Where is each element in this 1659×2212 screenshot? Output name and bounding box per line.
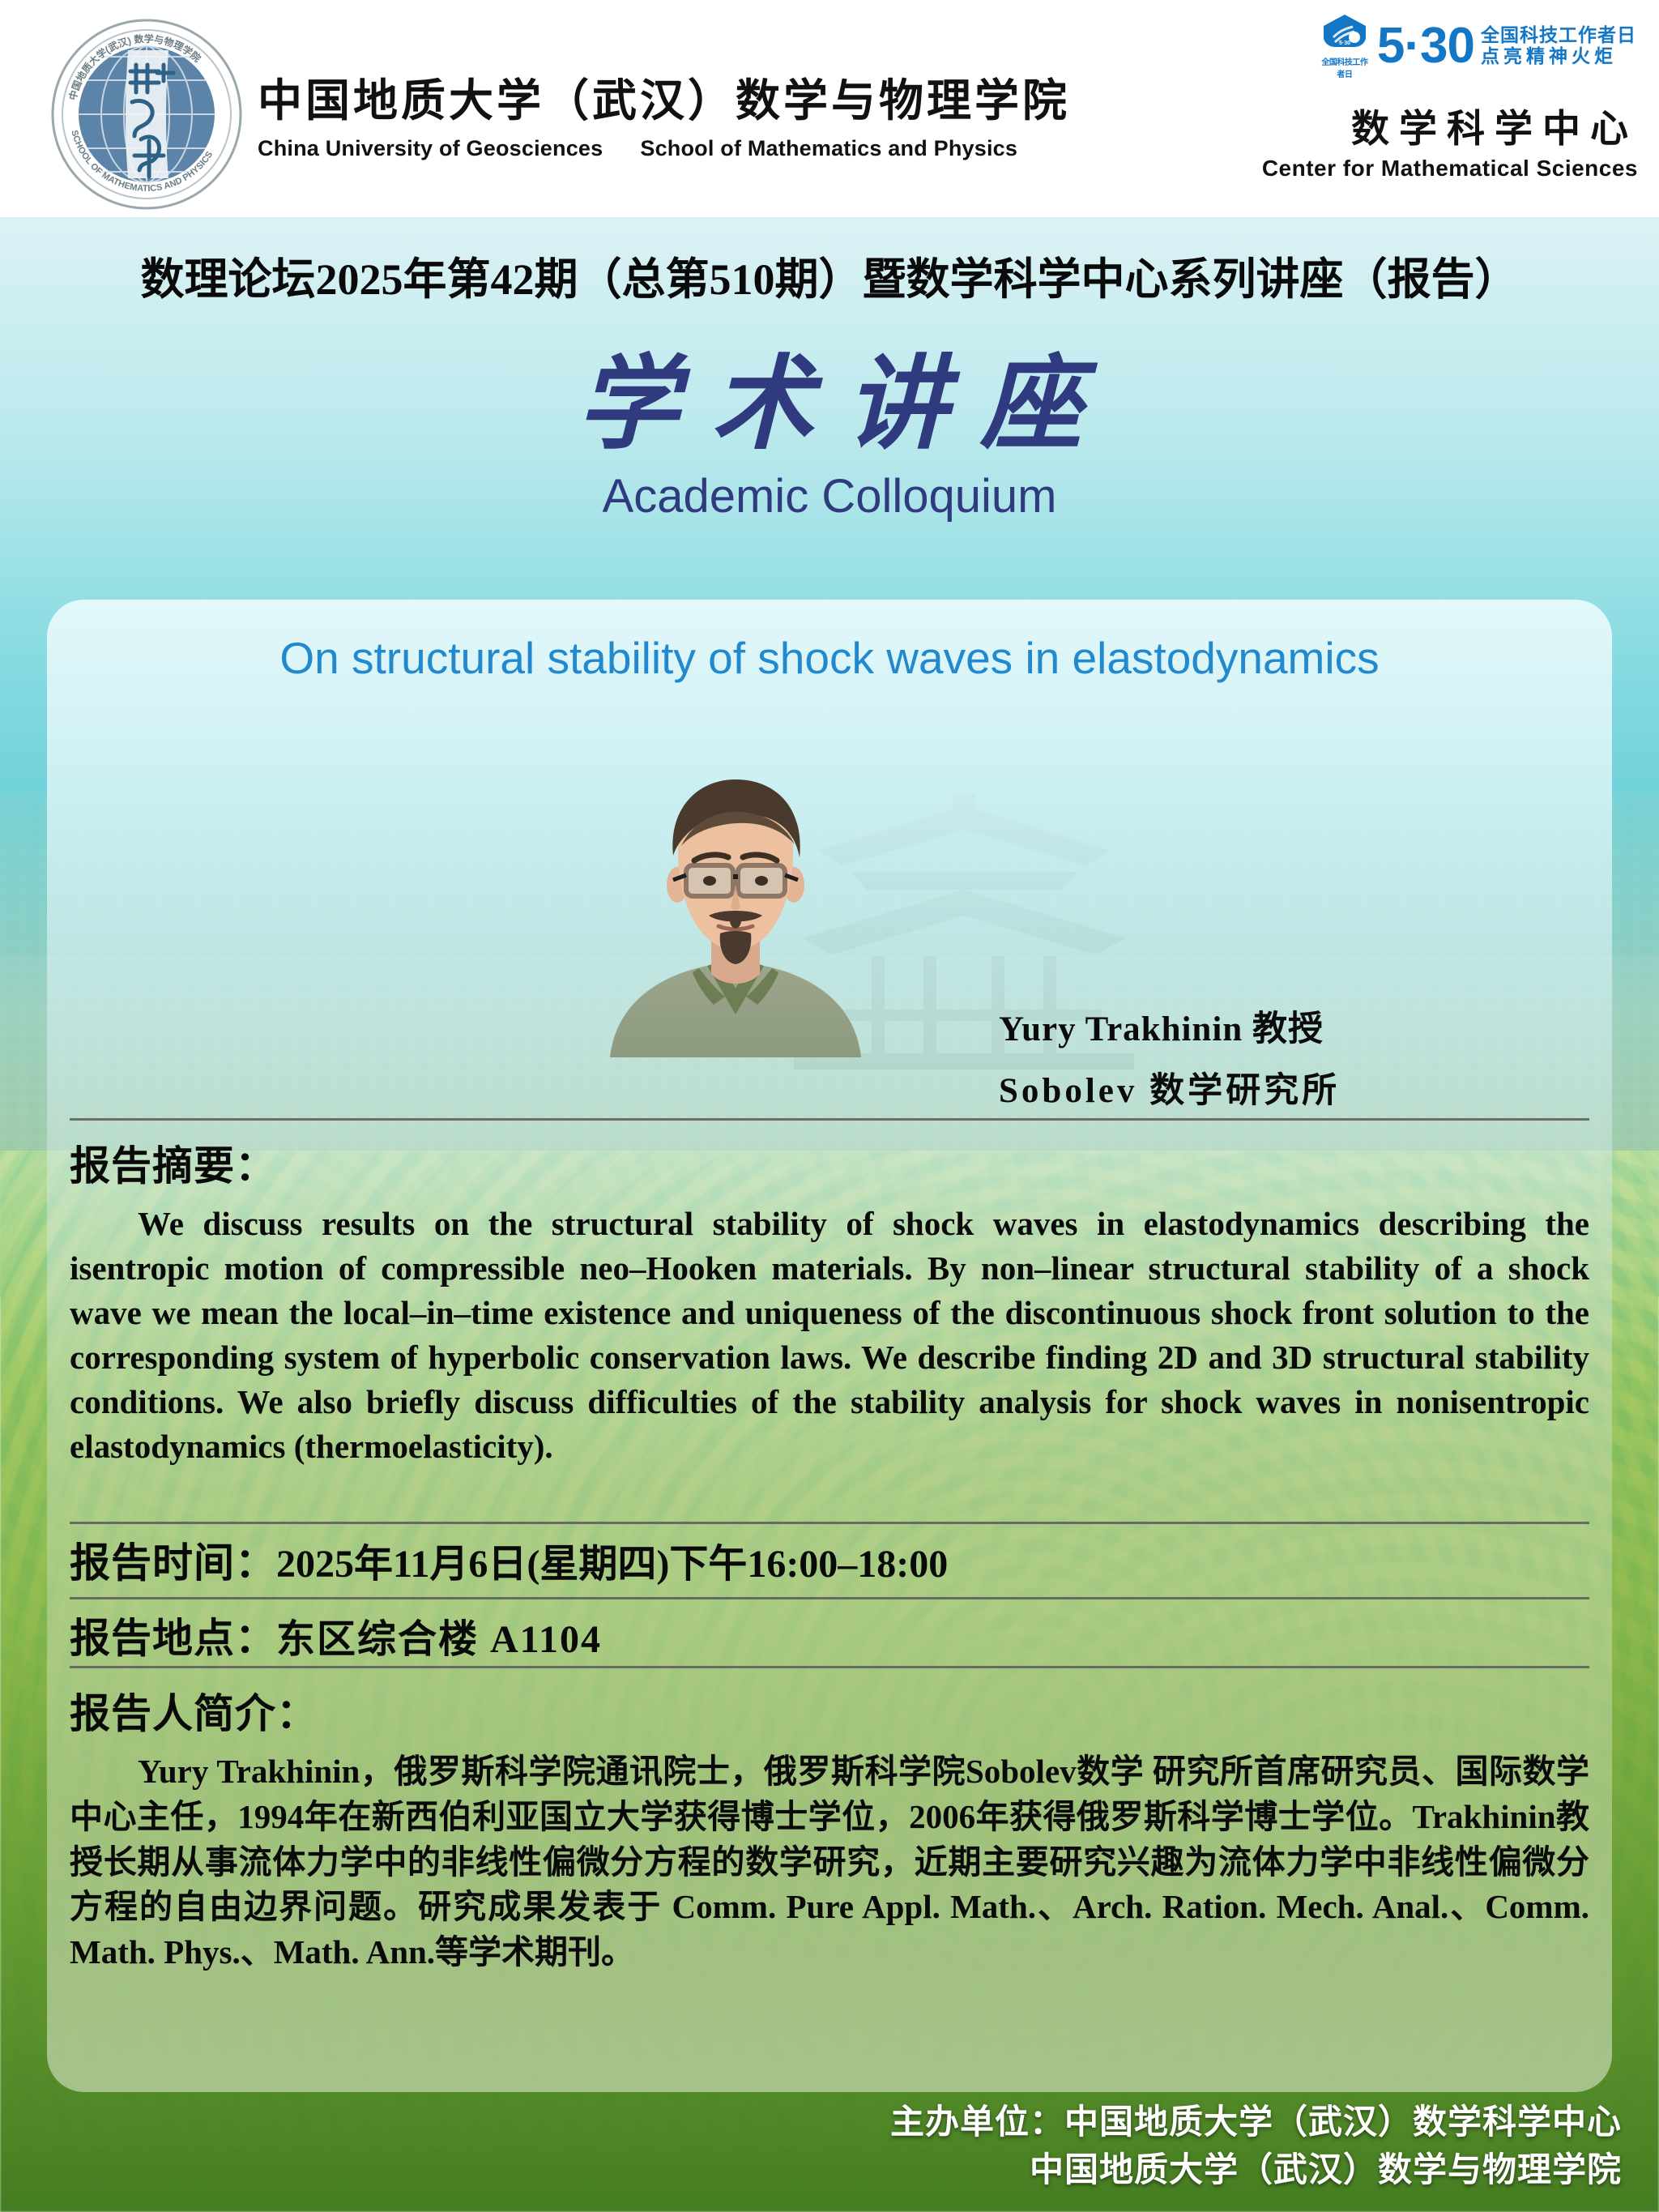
calligraphy-block: 学术讲座 Academic Colloquium: [0, 348, 1659, 523]
school-dept-en: School of Mathematics and Physics: [640, 136, 1017, 160]
place-row: 报告地点： 东区综合楼 A1104: [70, 1599, 1589, 1672]
speaker-info: Yury Trakhinin 教授 Sobolev 数学研究所: [999, 1001, 1340, 1112]
footer-organizer-line2: 中国地质大学（武汉）数学与物理学院: [890, 2146, 1622, 2194]
bio-section: 报告人简介： Yury Trakhinin，俄罗斯科学院通讯院士，俄罗斯科学院S…: [70, 1666, 1589, 1975]
abstract-section: 报告摘要： We discuss results on the structur…: [70, 1118, 1589, 1469]
center-name-cn: 数学科学中心: [1351, 97, 1638, 153]
school-name-en: China University of GeosciencesSchool of…: [258, 136, 1070, 161]
school-name-cn: 中国地质大学（武汉）数学与物理学院: [258, 78, 1070, 125]
poster-footer: 主办单位：中国地质大学（武汉）数学科学中心 中国地质大学（武汉）数学与物理学院: [890, 2098, 1622, 2194]
bio-text: Yury Trakhinin，俄罗斯科学院通讯院士，俄罗斯科学院Sobolev数…: [70, 1749, 1589, 1975]
university-name-en: China University of Geosciences: [258, 136, 603, 160]
time-label: 报告时间：: [70, 1531, 276, 1589]
center-block: 5·30 全国科技工作者日 5·30 全国科技工作者日 点亮精神火炬 数学科学中…: [1239, 0, 1644, 217]
place-label: 报告地点：: [70, 1606, 276, 1664]
day530-slogan-line1: 全国科技工作者日: [1481, 25, 1636, 46]
school-name-block: 中国地质大学（武汉）数学与物理学院 China University of Ge…: [258, 78, 1070, 161]
university-school-logo: 中国地质大学(武汉) 数学与物理学院 SCHOOL OF MATHEMATICS…: [50, 18, 243, 211]
center-name-en: Center for Mathematical Sciences: [1262, 156, 1638, 181]
speaker-portrait-icon: [578, 762, 893, 1057]
torch-badge-label: 全国科技工作者日: [1320, 55, 1369, 79]
footer-organizer-line1: 主办单位：中国地质大学（武汉）数学科学中心: [890, 2098, 1622, 2146]
speaker-photo: [578, 762, 893, 1057]
speaker-institute: Sobolev 数学研究所: [999, 1062, 1340, 1112]
speaker-name: Yury Trakhinin 教授: [999, 1001, 1340, 1051]
time-divider-top: [70, 1522, 1589, 1524]
bio-divider-top: [70, 1666, 1589, 1668]
abstract-text: We discuss results on the structural sta…: [70, 1202, 1589, 1469]
place-value: 东区综合楼 A1104: [276, 1607, 602, 1663]
time-row: 报告时间： 2025年11月6日(星期四)下午16:00–18:00: [70, 1524, 1589, 1597]
cug-school-emblem-icon: 中国地质大学(武汉) 数学与物理学院 SCHOOL OF MATHEMATICS…: [50, 18, 243, 211]
torch-badge-icon: 5·30 全国科技工作者日: [1320, 13, 1369, 79]
abstract-label: 报告摘要：: [70, 1134, 1589, 1192]
time-value: 2025年11月6日(星期四)下午16:00–18:00: [276, 1531, 948, 1588]
poster-header: 中国地质大学(武汉) 数学与物理学院 SCHOOL OF MATHEMATICS…: [0, 0, 1659, 217]
bio-label: 报告人简介：: [70, 1681, 1589, 1740]
content-card: On structural stability of shock waves i…: [47, 600, 1612, 2092]
abstract-divider-top: [70, 1118, 1589, 1121]
day530-number: 5·30: [1377, 25, 1474, 68]
calligraphy-title-cn: 学术讲座: [0, 348, 1659, 463]
forum-series-title: 数理论坛2025年第42期（总第510期）暨数学科学中心系列讲座（报告）: [0, 243, 1659, 307]
talk-title: On structural stability of shock waves i…: [47, 632, 1612, 684]
calligraphy-title-en: Academic Colloquium: [0, 469, 1659, 523]
svg-text:5·30: 5·30: [1339, 41, 1350, 46]
place-divider-top: [70, 1597, 1589, 1599]
national-sci-day-logo: 5·30 全国科技工作者日 5·30 全国科技工作者日 点亮精神火炬: [1320, 13, 1636, 79]
meta-section: 报告时间： 2025年11月6日(星期四)下午16:00–18:00 报告地点：…: [70, 1522, 1589, 1672]
day530-slogan: 全国科技工作者日 点亮精神火炬: [1481, 25, 1636, 67]
day530-slogan-line2: 点亮精神火炬: [1481, 46, 1636, 67]
